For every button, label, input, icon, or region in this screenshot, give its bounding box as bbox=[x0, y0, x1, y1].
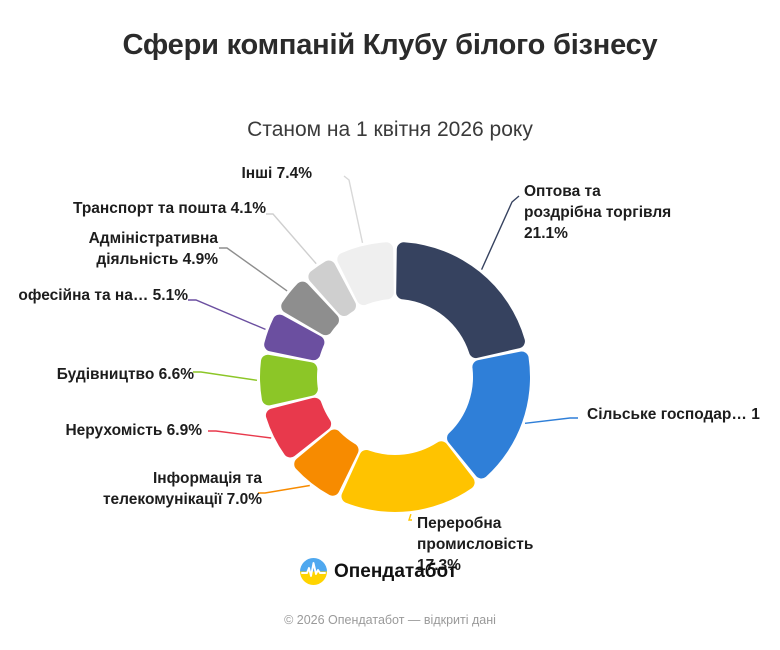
donut-slice[interactable]: Будівництво 6.6% bbox=[260, 355, 318, 406]
leader-line bbox=[266, 214, 316, 264]
brand-name: Опендатабот bbox=[334, 561, 457, 583]
leader-line bbox=[188, 300, 266, 329]
leader-line bbox=[208, 431, 271, 438]
slice-label-construction: Будівництво 6.6% bbox=[57, 364, 194, 385]
chart-page: Сфери компаній Клубу білого бізнесу Стан… bbox=[0, 0, 780, 650]
leader-line bbox=[344, 176, 363, 243]
slice-label-transport: Транспорт та пошта 4.1% bbox=[73, 198, 266, 219]
donut-slices: Оптова та роздрібна торгівля 21.1%Сільсь… bbox=[260, 242, 530, 512]
donut-chart: Оптова та роздрібна торгівля 21.1%Сільсь… bbox=[0, 0, 780, 650]
leader-line bbox=[409, 514, 412, 520]
brand: Опендатабот bbox=[300, 558, 457, 585]
donut-slice[interactable]: Сільське господар… 1 bbox=[447, 351, 530, 478]
leader-line bbox=[258, 486, 310, 494]
slice-label-realestate: Нерухомість 6.9% bbox=[65, 420, 202, 441]
slice-label-administrative: Адміністративна діяльність 4.9% bbox=[89, 228, 218, 270]
slice-label-professional: офесійна та на… 5.1% bbox=[18, 285, 188, 306]
leader-line bbox=[219, 248, 287, 291]
leader-line bbox=[193, 372, 257, 380]
slice-label-trade: Оптова та роздрібна торгівля 21.1% bbox=[524, 181, 671, 244]
donut-slice[interactable]: Оптова та роздрібна торгівля 21.1% bbox=[396, 242, 525, 358]
slice-label-infocom: Інформація та телекомунікації 7.0% bbox=[103, 468, 262, 510]
opendatabot-logo-icon bbox=[300, 558, 327, 585]
footer-copyright: © 2026 Опендатабот — відкриті дані bbox=[0, 613, 780, 627]
slice-label-other: Інші 7.4% bbox=[241, 163, 312, 184]
donut-slice[interactable]: Переробна промисловість 17.3% bbox=[341, 441, 474, 512]
slice-label-agriculture: Сільське господар… 1 bbox=[587, 404, 760, 425]
leader-line bbox=[525, 418, 578, 423]
leader-line bbox=[482, 196, 519, 270]
